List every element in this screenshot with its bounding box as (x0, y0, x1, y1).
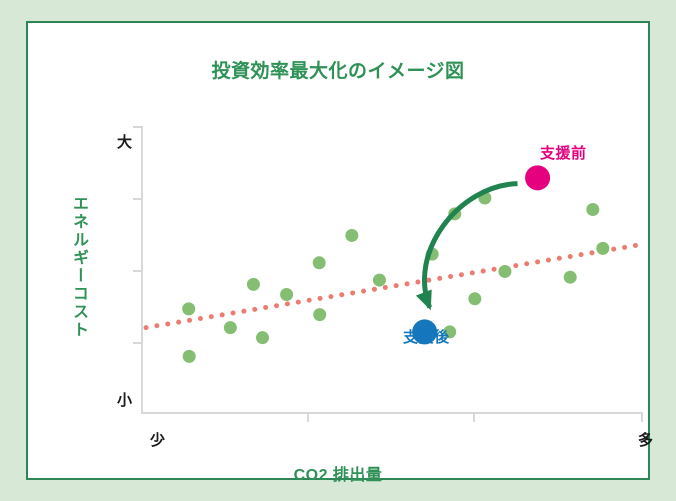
trendline-dot (492, 267, 497, 272)
trendline-dot (394, 283, 399, 288)
scatter-point (224, 321, 237, 334)
trendline-dot (144, 325, 149, 330)
trendline-dot (611, 247, 616, 252)
trendline-dot (524, 261, 529, 266)
scatter-point (247, 278, 260, 291)
trendline-dot (220, 312, 225, 317)
x-axis-tick-label-high: 多 (638, 429, 653, 450)
trendline-dot (448, 274, 453, 279)
improvement-arrow (416, 184, 518, 311)
trendline-dot (165, 321, 170, 326)
scatter-point (313, 308, 326, 321)
scatter-point (564, 271, 577, 284)
trendline-dot (470, 270, 475, 275)
trendline-dot (154, 323, 159, 328)
scatter-point (313, 256, 326, 269)
plot-area (141, 126, 643, 414)
y-axis-title: エネルギーコスト (64, 195, 86, 339)
trendline-dot (405, 281, 410, 286)
trendline-dot (361, 289, 366, 294)
trendline-dot (318, 296, 323, 301)
y-axis-tick-label-low: 小 (106, 389, 132, 410)
trendline-dot (589, 250, 594, 255)
scatter-point (586, 203, 599, 216)
trendline-dot (285, 301, 290, 306)
scatter-point (373, 274, 386, 287)
trendline-dot (546, 258, 551, 263)
scatter-point (182, 302, 195, 315)
arrow-head (416, 289, 432, 310)
scatter-point (256, 331, 269, 344)
annotation-label-before: 支援前 (540, 142, 587, 163)
trendline-dot (350, 290, 355, 295)
y-axis-tick-label-high: 大 (106, 131, 132, 152)
trendline-dot (568, 254, 573, 259)
scatter-point (596, 242, 609, 255)
chart-card: 投資効率最大化のイメージ図 エネルギーコスト 大 小 少 多 CO2 排出量 支… (26, 21, 650, 480)
trendline-dot (307, 298, 312, 303)
trendline-dot (274, 303, 279, 308)
scatter-point (468, 292, 481, 305)
scatter-points (182, 192, 609, 363)
trendline-dot (437, 276, 442, 281)
trendline-dot (231, 311, 236, 316)
chart-title: 投資効率最大化のイメージ図 (28, 56, 648, 83)
x-axis-title: CO2 排出量 (28, 461, 648, 485)
trendline-dot (633, 243, 638, 248)
trendline-dot (459, 272, 464, 277)
scatter-point (183, 350, 196, 363)
trendline (144, 243, 638, 330)
trendline-dot (328, 294, 333, 299)
trendline-dot (622, 245, 627, 250)
trendline-dot (579, 252, 584, 257)
trendline-dot (209, 314, 214, 319)
annotation-label-after: 支援後 (403, 326, 450, 347)
arrow-shaft (424, 184, 517, 308)
trendline-dot (296, 300, 301, 305)
trendline-dot (198, 316, 203, 321)
x-axis-tick-label-low: 少 (150, 429, 165, 450)
trendline-dot (263, 305, 268, 310)
scatter-point (345, 229, 358, 242)
scatter-point (498, 265, 511, 278)
plot-graphics-layer (141, 126, 643, 414)
scatter-point (280, 288, 293, 301)
trendline-dot (241, 309, 246, 314)
page-root: 投資効率最大化のイメージ図 エネルギーコスト 大 小 少 多 CO2 排出量 支… (0, 0, 676, 501)
trendline-dot (426, 278, 431, 283)
highlight-point-before (525, 165, 550, 190)
trendline-dot (372, 287, 377, 292)
trendline-dot (176, 320, 181, 325)
trendline-dot (383, 285, 388, 290)
trendline-dot (339, 292, 344, 297)
trendline-dot (481, 269, 486, 274)
trendline-dot (187, 318, 192, 323)
trendline-dot (415, 280, 420, 285)
trendline-dot (513, 263, 518, 268)
trendline-dot (535, 259, 540, 264)
trendline-dot (557, 256, 562, 261)
trendline-dot (252, 307, 257, 312)
